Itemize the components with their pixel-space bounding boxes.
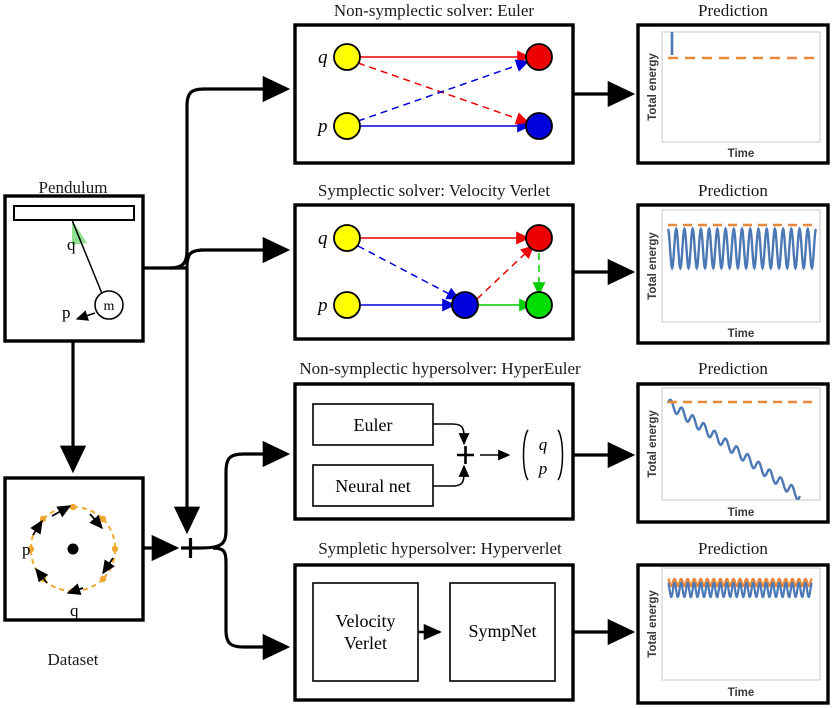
dataset-box: p q	[5, 478, 143, 620]
chart-prediction-euler: Total energy Time	[638, 25, 828, 163]
figure-canvas: Non-symplectic solver: Euler Symplectic …	[0, 0, 832, 708]
ylabel-euler: Total energy	[647, 53, 659, 121]
svg-text:m: m	[104, 299, 115, 314]
diagram-vectors: m q p	[0, 0, 832, 708]
panel-velocity-verlet: q p	[295, 205, 573, 339]
junction-plus	[181, 538, 200, 558]
node-q-end	[526, 225, 552, 251]
node-q-start	[334, 225, 360, 251]
pendulum-box: m q p	[5, 196, 143, 341]
ylabel-verlet: Total energy	[647, 232, 659, 300]
pendulum-label-q: q	[67, 235, 76, 254]
panel-hypereuler: q p	[295, 384, 573, 519]
pendulum-label-p: p	[62, 303, 71, 322]
node-p-start	[334, 113, 360, 139]
label-block-velocity-verlet: Velocity Verlet	[313, 610, 418, 654]
ylabel-hyperverlet: Total energy	[647, 590, 659, 658]
verlet-label-p: p	[316, 295, 328, 316]
label-line-verlet: Verlet	[344, 633, 387, 653]
xlabel-euler: Time	[728, 148, 755, 160]
label-block-sympnet: SympNet	[450, 621, 555, 642]
dataset-label-p: p	[22, 540, 31, 559]
chart-prediction-hypereuler: Total energy Time	[638, 384, 828, 522]
node-p-end	[526, 292, 552, 318]
node-p-start	[334, 292, 360, 318]
label-line-velocity: Velocity	[336, 611, 396, 631]
node-p-half	[452, 292, 478, 318]
xlabel-hypereuler: Time	[728, 507, 755, 519]
euler-label-q: q	[318, 47, 328, 68]
xlabel-verlet: Time	[728, 328, 755, 340]
verlet-label-q: q	[318, 228, 328, 249]
euler-label-p: p	[316, 116, 328, 137]
label-block-euler: Euler	[313, 415, 433, 436]
vector-q: q	[539, 435, 548, 454]
chart-prediction-hyperverlet: Total energy Time	[638, 565, 828, 703]
node-p-end	[526, 113, 552, 139]
vector-p: p	[538, 459, 548, 478]
label-block-neural-net: Neural net	[313, 476, 433, 497]
dataset-label-q: q	[70, 601, 79, 620]
xlabel-hyperverlet: Time	[728, 687, 755, 699]
connector-pendulum-out	[143, 89, 287, 531]
connector-plus-hypersolvers	[200, 454, 287, 647]
panel-euler: q p	[295, 25, 573, 163]
chart-prediction-verlet: Total energy Time	[638, 205, 828, 343]
node-q-end	[526, 44, 552, 70]
node-q-start	[334, 44, 360, 70]
ylabel-hypereuler: Total energy	[647, 410, 659, 478]
